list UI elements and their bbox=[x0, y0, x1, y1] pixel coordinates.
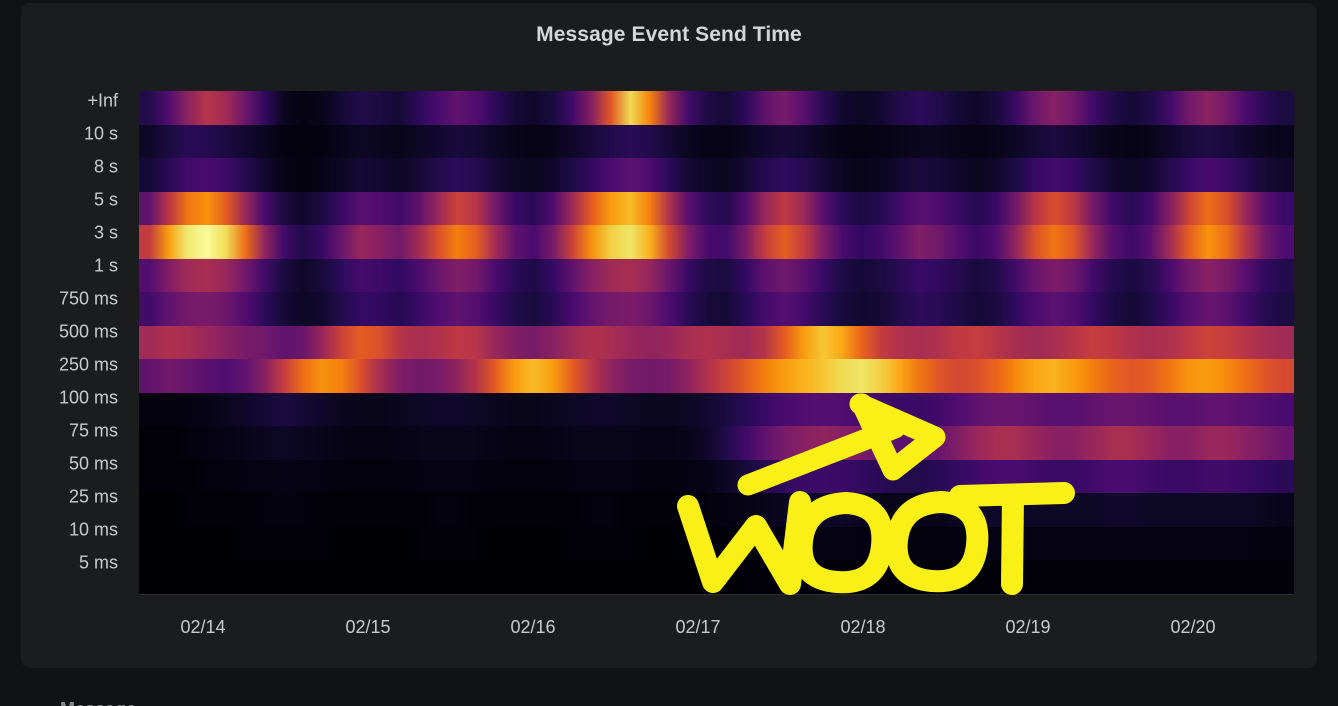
heatmap-row-canvas bbox=[139, 359, 1294, 393]
y-axis-tick: 5 s bbox=[94, 190, 118, 211]
y-axis-tick: 3 s bbox=[94, 223, 118, 244]
heatmap-row-canvas bbox=[139, 158, 1294, 192]
heatmap-row[interactable] bbox=[139, 259, 1294, 293]
heatmap-row-canvas bbox=[139, 326, 1294, 360]
heatmap-row[interactable] bbox=[139, 393, 1294, 427]
y-axis-tick: 250 ms bbox=[59, 355, 118, 376]
x-axis-tick: 02/17 bbox=[675, 617, 720, 638]
heatmap-row[interactable] bbox=[139, 527, 1294, 561]
heatmap-row[interactable] bbox=[139, 292, 1294, 326]
next-panel-title-peek: Message bbox=[60, 699, 136, 706]
heatmap-row[interactable] bbox=[139, 460, 1294, 494]
heatmap-row-canvas bbox=[139, 493, 1294, 527]
heatmap-row[interactable] bbox=[139, 326, 1294, 360]
heatmap-row-canvas bbox=[139, 560, 1294, 594]
heatmap-row[interactable] bbox=[139, 493, 1294, 527]
x-axis-tick: 02/18 bbox=[840, 617, 885, 638]
heatmap-row[interactable] bbox=[139, 158, 1294, 192]
heatmap-row-canvas bbox=[139, 192, 1294, 226]
heatmap-row-canvas bbox=[139, 225, 1294, 259]
y-axis-tick: 75 ms bbox=[69, 421, 118, 442]
y-axis-tick: 100 ms bbox=[59, 388, 118, 409]
y-axis-tick: 25 ms bbox=[69, 487, 118, 508]
x-axis-tick: 02/15 bbox=[345, 617, 390, 638]
heatmap-row-canvas bbox=[139, 91, 1294, 125]
heatmap-row-canvas bbox=[139, 393, 1294, 427]
heatmap-row[interactable] bbox=[139, 125, 1294, 159]
x-axis-line bbox=[139, 594, 1294, 595]
y-axis-tick: 750 ms bbox=[59, 289, 118, 310]
y-axis-tick: 10 ms bbox=[69, 520, 118, 541]
heatmap-row-canvas bbox=[139, 292, 1294, 326]
heatmap-row-canvas bbox=[139, 259, 1294, 293]
y-axis-tick: 8 s bbox=[94, 157, 118, 178]
y-axis-tick: +Inf bbox=[87, 91, 118, 112]
heatmap-row-canvas bbox=[139, 527, 1294, 561]
x-axis-tick: 02/16 bbox=[510, 617, 555, 638]
y-axis-tick: 5 ms bbox=[79, 553, 118, 574]
heatmap-row-canvas bbox=[139, 426, 1294, 460]
x-axis: 02/1402/1502/1602/1702/1802/1902/20 bbox=[118, 603, 1318, 643]
heatmap-row[interactable] bbox=[139, 91, 1294, 125]
heatmap-plot[interactable] bbox=[139, 91, 1294, 594]
x-axis-tick: 02/20 bbox=[1170, 617, 1215, 638]
chart-panel: Message Event Send Time +Inf10 s8 s5 s3 … bbox=[21, 3, 1317, 668]
heatmap-row[interactable] bbox=[139, 225, 1294, 259]
x-axis-tick: 02/19 bbox=[1005, 617, 1050, 638]
heatmap-row-canvas bbox=[139, 125, 1294, 159]
x-axis-tick: 02/14 bbox=[180, 617, 225, 638]
heatmap-row[interactable] bbox=[139, 359, 1294, 393]
y-axis-tick: 50 ms bbox=[69, 454, 118, 475]
y-axis-tick: 500 ms bbox=[59, 322, 118, 343]
heatmap-row[interactable] bbox=[139, 192, 1294, 226]
heatmap-row-canvas bbox=[139, 460, 1294, 494]
y-axis-tick: 1 s bbox=[94, 256, 118, 277]
y-axis-tick: 10 s bbox=[84, 124, 118, 145]
y-axis: +Inf10 s8 s5 s3 s1 s750 ms500 ms250 ms10… bbox=[21, 88, 118, 598]
page-title: Message Event Send Time bbox=[21, 23, 1317, 47]
heatmap-row[interactable] bbox=[139, 426, 1294, 460]
heatmap-row[interactable] bbox=[139, 560, 1294, 594]
